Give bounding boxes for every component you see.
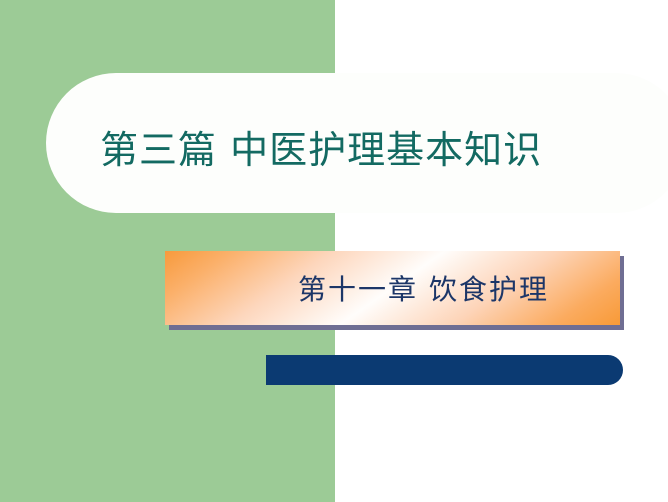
part-title: 第三篇 中医护理基本知识 bbox=[100, 110, 660, 190]
chapter-title-banner: 第十一章 饮食护理 bbox=[165, 251, 620, 325]
chapter-title: 第十一章 饮食护理 bbox=[165, 251, 620, 325]
accent-bar-decoration bbox=[266, 355, 623, 385]
presentation-slide: 第三篇 中医护理基本知识 第十一章 饮食护理 bbox=[0, 0, 668, 502]
